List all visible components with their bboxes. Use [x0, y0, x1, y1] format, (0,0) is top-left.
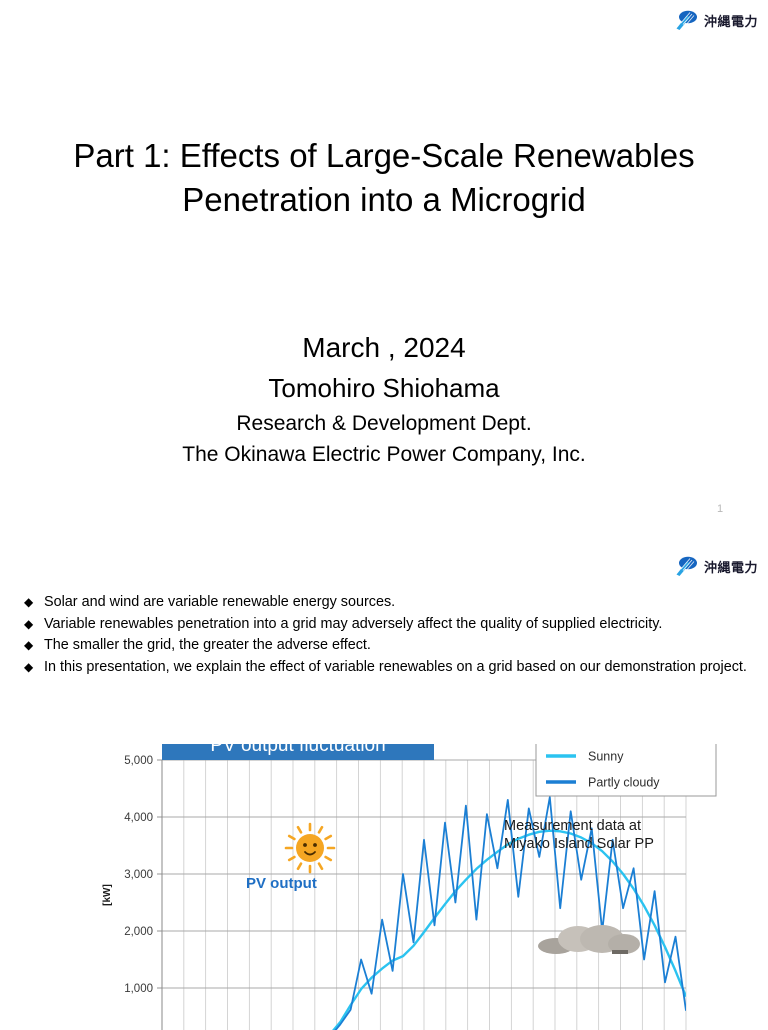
bullet-marker-icon: ◆ — [24, 592, 33, 613]
bullet-item: ◆Solar and wind are variable renewable e… — [24, 592, 748, 613]
bullet-marker-icon: ◆ — [24, 657, 33, 678]
y-axis-tick-label: 2,000 — [124, 926, 153, 938]
y-axis-tick-label: 3,000 — [124, 869, 153, 881]
okiden-logo-icon — [673, 556, 699, 576]
bullet-text: The smaller the grid, the greater the ad… — [44, 637, 371, 653]
company-name: The Okinawa Electric Power Company, Inc. — [0, 439, 768, 470]
bullet-marker-icon: ◆ — [24, 635, 33, 656]
page-title: Part 1: Effects of Large-Scale Renewable… — [0, 134, 768, 222]
bullet-text: Solar and wind are variable renewable en… — [44, 594, 395, 610]
y-axis-tick-label: 4,000 — [124, 812, 153, 824]
pv-output-label: PV output — [246, 875, 317, 892]
legend-label: Sunny — [588, 750, 624, 764]
y-axis-tick-label: 1,000 — [124, 983, 153, 995]
department-name: Research & Development Dept. — [0, 408, 768, 439]
company-logo: 沖縄電力 — [673, 10, 758, 30]
bullet-item: ◆Variable renewables penetration into a … — [24, 614, 748, 635]
presentation-meta: March , 2024 Tomohiro Shiohama Research … — [0, 328, 768, 470]
measurement-note-line-2: Miyako Island Solar PP — [504, 836, 654, 852]
company-logo: 沖縄電力 — [673, 556, 758, 576]
legend-label: Partly cloudy — [588, 776, 660, 790]
presentation-date: March , 2024 — [0, 328, 768, 368]
title-line-2: Penetration into a Microgrid — [0, 178, 768, 222]
okiden-logo-icon — [673, 10, 699, 30]
page-number: 1 — [700, 503, 740, 515]
bullet-marker-icon: ◆ — [24, 614, 33, 635]
bullet-list: ◆Solar and wind are variable renewable e… — [24, 592, 748, 678]
company-logo-text: 沖縄電力 — [704, 557, 758, 576]
cloud-icon — [538, 925, 640, 954]
chart-vertical-gridlines — [162, 760, 686, 1030]
measurement-note-line-1: Measurement data at — [504, 818, 641, 834]
bullet-item: ◆In this presentation, we explain the ef… — [24, 657, 748, 678]
title-line-1: Part 1: Effects of Large-Scale Renewable… — [0, 134, 768, 178]
bullet-text: Variable renewables penetration into a g… — [44, 616, 662, 632]
y-axis-tick-label: 5,000 — [124, 755, 153, 767]
y-axis-title: [kW] — [102, 884, 113, 906]
bullet-text: In this presentation, we explain the eff… — [44, 659, 747, 675]
bullet-item: ◆The smaller the grid, the greater the a… — [24, 635, 748, 656]
chart-title-text: PV output fluctuation — [210, 744, 385, 756]
pv-output-chart: 5,0004,0003,0002,0001,000[kW]PV output f… — [96, 744, 768, 1030]
presenter-name: Tomohiro Shiohama — [0, 368, 768, 408]
company-logo-text: 沖縄電力 — [704, 11, 758, 30]
